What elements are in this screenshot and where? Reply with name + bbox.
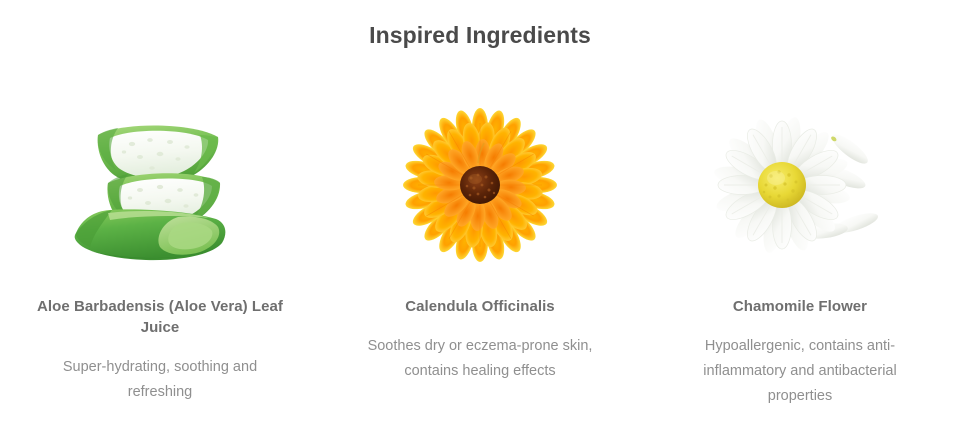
ingredient-description: Hypoallergenic, contains anti-inflammato…	[678, 334, 923, 409]
ingredients-section: Inspired Ingredients	[0, 0, 960, 435]
ingredient-description: Soothes dry or eczema-prone skin, contai…	[345, 334, 615, 384]
chamomile-image-wrap	[685, 100, 915, 270]
ingredient-description: Super-hydrating, soothing and refreshing	[35, 355, 285, 405]
ingredient-card-calendula: Calendula Officinalis Soothes dry or ecz…	[320, 100, 640, 384]
ingredient-name: Chamomile Flower	[665, 296, 935, 317]
ingredient-card-chamomile: Chamomile Flower Hypoallergenic, contain…	[640, 100, 960, 409]
aloe-vera-image-wrap	[45, 100, 275, 270]
page-title: Inspired Ingredients	[0, 18, 960, 52]
ingredient-name: Aloe Barbadensis (Aloe Vera) Leaf Juice	[20, 296, 300, 338]
aloe-leaf-bottom	[75, 209, 226, 260]
calendula-image-wrap	[365, 100, 595, 270]
aloe-vera-slices-image	[60, 105, 260, 265]
chamomile-flower-image	[700, 105, 900, 265]
ingredient-name: Calendula Officinalis	[340, 296, 620, 317]
ingredient-card-aloe-vera: Aloe Barbadensis (Aloe Vera) Leaf Juice …	[0, 100, 320, 405]
calendula-center	[460, 166, 500, 204]
ingredients-grid: Aloe Barbadensis (Aloe Vera) Leaf Juice …	[0, 100, 960, 409]
calendula-flower-image	[380, 105, 580, 265]
chamomile-center	[758, 162, 806, 208]
